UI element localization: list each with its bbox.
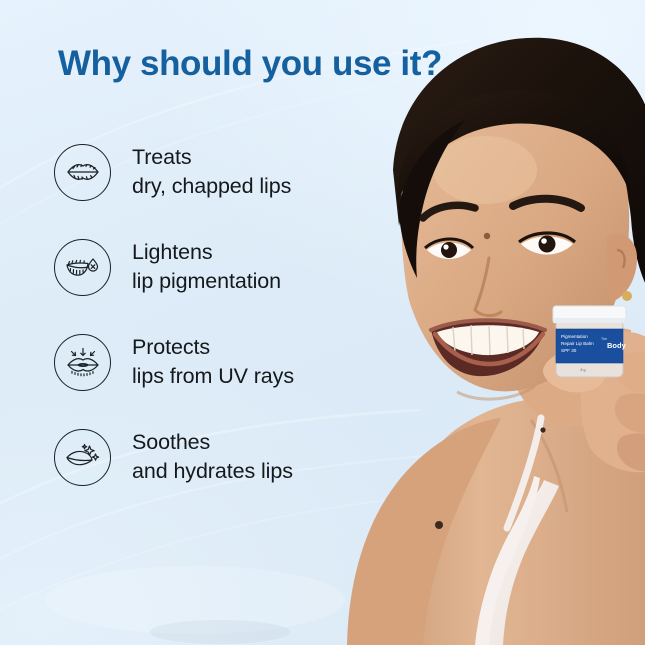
list-item-text: Lightens lip pigmentation (132, 238, 281, 295)
list-item: Treats dry, chapped lips (54, 133, 384, 211)
lips-pigmentation-droplet-icon (54, 239, 111, 296)
product-jar: Pigmentation Repair Lip Balm SPF 30 8 g … (553, 306, 627, 377)
list-item: Lightens lip pigmentation (54, 228, 384, 306)
list-item-line2: dry, chapped lips (132, 172, 291, 201)
jar-brand: Body (607, 341, 627, 350)
list-item-line2: lips from UV rays (132, 362, 294, 391)
lips-uv-protection-icon (54, 334, 111, 391)
jar-label-line1: Pigmentation (561, 334, 588, 339)
page-title: Why should you use it? (58, 44, 442, 84)
jar-label-line3: SPF 30 (561, 348, 577, 353)
list-item-text: Protects lips from UV rays (132, 333, 294, 390)
list-item-text: Treats dry, chapped lips (132, 143, 291, 200)
list-item-line2: lip pigmentation (132, 267, 281, 296)
list-item-text: Soothes and hydrates lips (132, 428, 293, 485)
jar-size-text: 8 g (581, 368, 586, 372)
list-item-line1: Protects (132, 335, 210, 359)
list-item-line2: and hydrates lips (132, 457, 293, 486)
promo-banner: Pigmentation Repair Lip Balm SPF 30 8 g … (0, 0, 645, 645)
list-item-line1: Soothes (132, 430, 210, 454)
chapped-lips-icon (54, 144, 111, 201)
list-item-line1: Treats (132, 145, 192, 169)
list-item: Soothes and hydrates lips (54, 418, 384, 496)
lips-sparkle-hydration-icon (54, 429, 111, 486)
list-item: Protects lips from UV rays (54, 323, 384, 401)
benefits-list: Treats dry, chapped lips (54, 133, 384, 513)
jar-label-line2: Repair Lip Balm (561, 341, 594, 346)
list-item-line1: Lightens (132, 240, 213, 264)
